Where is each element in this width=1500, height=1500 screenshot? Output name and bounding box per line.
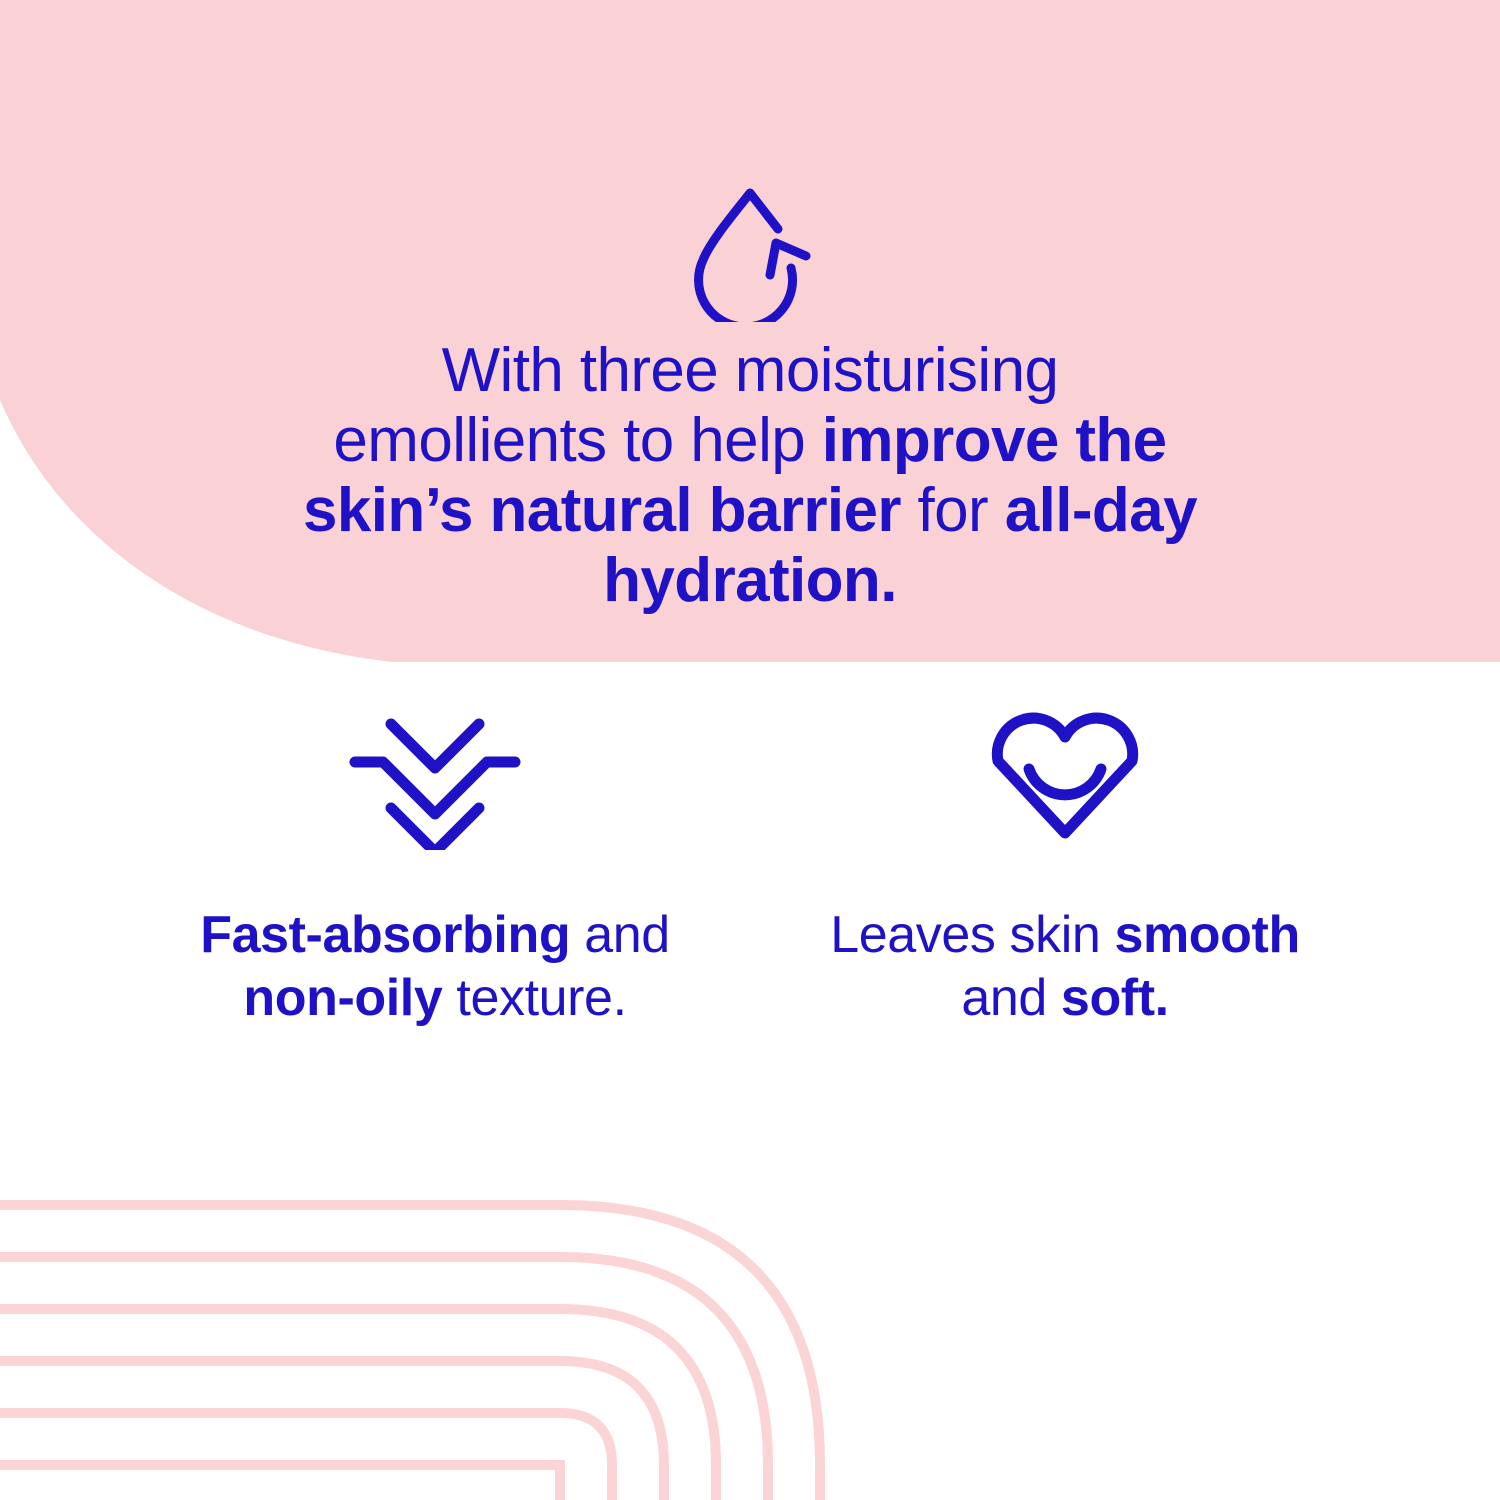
feature-fast-absorbing: Fast-absorbing and non-oily texture. — [130, 700, 740, 1031]
feature-fast-absorbing-label: Fast-absorbing and non-oily texture. — [155, 904, 715, 1031]
feature2-part-1: Leaves skin — [830, 906, 1114, 964]
feature2-part-4: soft. — [1061, 969, 1169, 1027]
feature1-part-1: Fast-absorbing — [200, 906, 570, 964]
promo-graphic: With three moisturising emollients to he… — [0, 0, 1500, 1500]
heart-smile-icon — [985, 700, 1145, 850]
feature-smooth-soft: Leaves skin smooth and soft. — [760, 700, 1370, 1031]
hero-headline-part-3: for — [901, 476, 1005, 545]
double-chevron-down-icon — [345, 700, 525, 850]
feature2-part-2: smooth — [1114, 906, 1299, 964]
feature1-part-3: non-oily — [243, 969, 442, 1027]
feature-row: Fast-absorbing and non-oily texture. Lea… — [0, 700, 1500, 1031]
water-drop-refresh-icon — [675, 182, 825, 322]
feature-smooth-soft-label: Leaves skin smooth and soft. — [785, 904, 1345, 1031]
hero-headline: With three moisturising emollients to he… — [300, 336, 1200, 616]
hero-section: With three moisturising emollients to he… — [0, 0, 1500, 662]
feature1-part-4: texture. — [442, 969, 626, 1027]
feature1-part-2: and — [570, 906, 670, 964]
feature2-part-3: and — [961, 969, 1061, 1027]
